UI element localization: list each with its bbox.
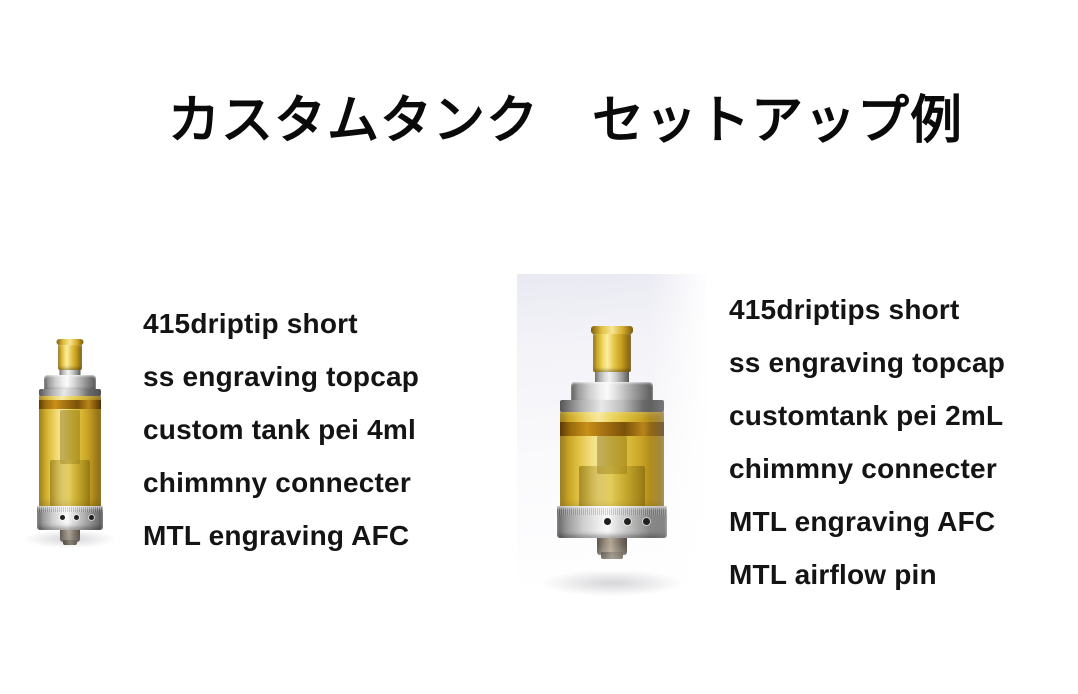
afc-hole-icon	[604, 518, 611, 525]
afc-holes-right	[604, 518, 650, 526]
topcap-rim-left	[39, 389, 101, 396]
spec-line: ss engraving topcap	[143, 358, 419, 411]
afc-hole-icon	[60, 515, 65, 520]
oring-band-right	[560, 422, 664, 436]
driptip-right	[593, 330, 631, 372]
base-knurling-left	[37, 507, 103, 512]
spec-line: ss engraving topcap	[729, 344, 1005, 397]
tank-shadow-right	[542, 570, 682, 596]
oring-band-left	[39, 400, 101, 409]
topcap-rim-right	[560, 400, 664, 412]
driptip-lip-right	[591, 326, 633, 334]
spec-list-right: 415driptips short ss engraving topcap cu…	[729, 291, 1005, 609]
vape-tank-left	[28, 318, 112, 548]
inner-chimney-right	[579, 466, 645, 510]
driptip-left	[58, 342, 82, 370]
base-knurling-right	[557, 508, 667, 515]
afc-hole-icon	[89, 515, 94, 520]
spec-line: MTL engraving AFC	[143, 517, 419, 570]
custom-tank-photo-right	[517, 274, 707, 602]
spec-line: custom tank pei 4ml	[143, 411, 419, 464]
custom-tank-photo-left	[14, 318, 126, 550]
spec-line: customtank pei 2mL	[729, 397, 1005, 450]
tank-shadow-left	[24, 530, 116, 548]
afc-hole-icon	[74, 515, 79, 520]
spec-list-left: 415driptip short ss engraving topcap cus…	[143, 305, 419, 570]
vape-tank-right	[537, 274, 687, 594]
page-title: カスタムタンク セットアップ例	[168, 92, 963, 152]
spec-line: chimmny connecter	[143, 464, 419, 517]
spec-line: MTL airflow pin	[729, 556, 1005, 609]
spec-line: 415driptips short	[729, 291, 1005, 344]
spec-line: chimmny connecter	[729, 450, 1005, 503]
driptip-lip-left	[57, 339, 84, 345]
airflow-pin-tip-right	[601, 552, 623, 559]
inner-neck-left	[60, 410, 80, 464]
afc-holes-left	[60, 515, 94, 521]
spec-line: MTL engraving AFC	[729, 503, 1005, 556]
afc-hole-icon	[643, 518, 650, 525]
afc-hole-icon	[624, 518, 631, 525]
spec-line: 415driptip short	[143, 305, 419, 358]
inner-chimney-left	[50, 460, 90, 506]
